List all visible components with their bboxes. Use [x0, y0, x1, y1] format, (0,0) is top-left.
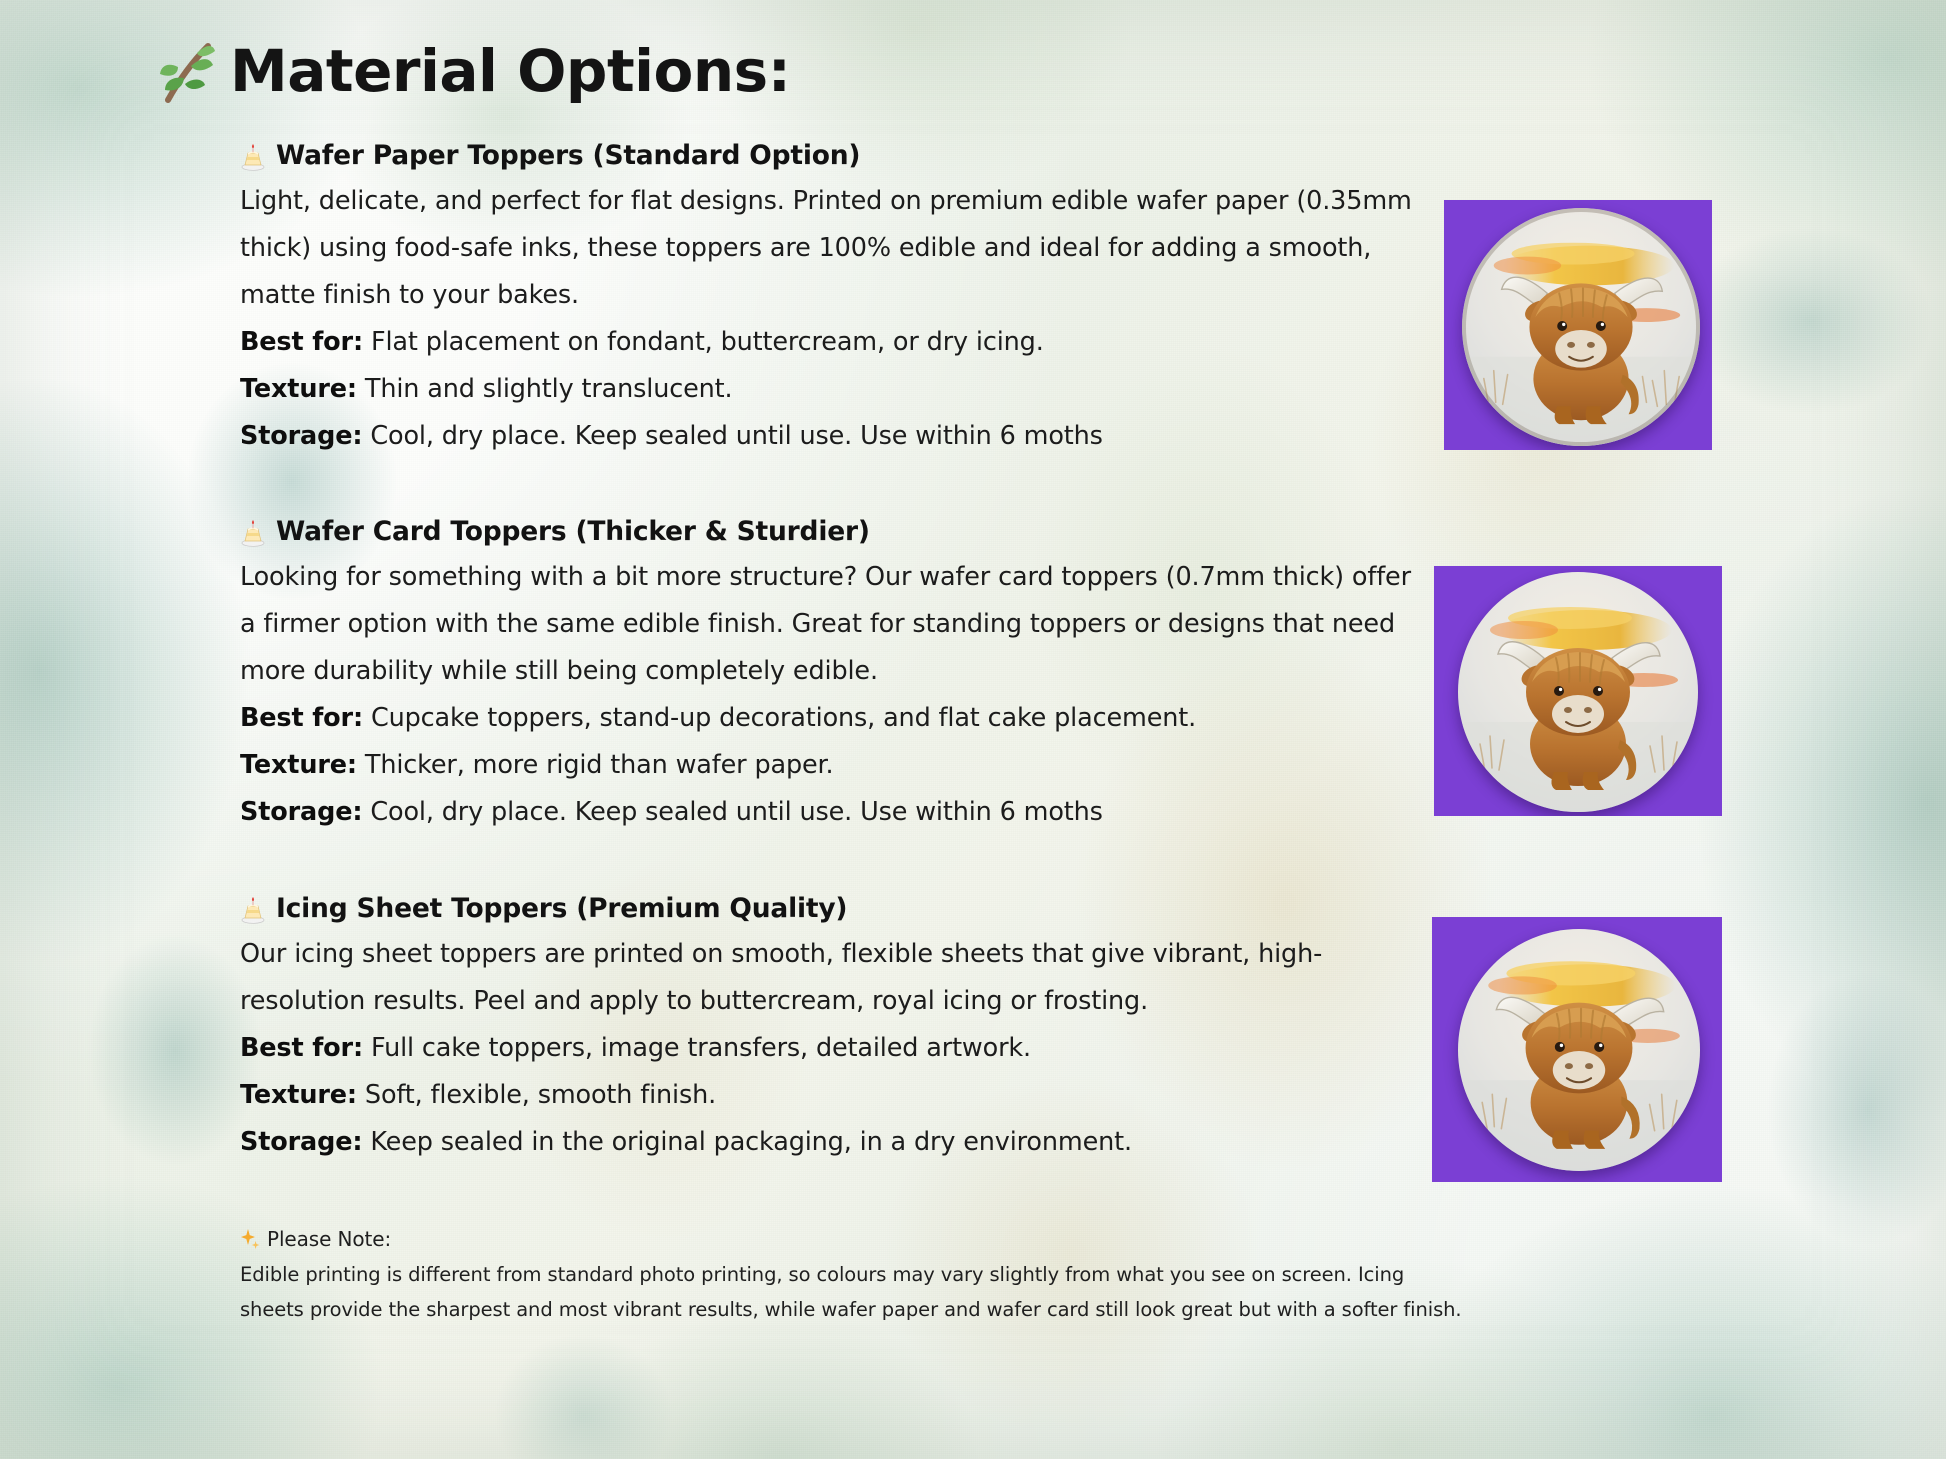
storage-label: Storage:	[240, 421, 362, 451]
cake-slice-icon	[240, 894, 266, 924]
texture-value: Thicker, more rigid than wafer paper.	[357, 750, 834, 780]
storage-value: Keep sealed in the original packaging, i…	[362, 1127, 1132, 1157]
storage-line: Storage: Cool, dry place. Keep sealed un…	[240, 413, 1415, 460]
best-for-label: Best for:	[240, 327, 363, 357]
section-paragraph: Our icing sheet toppers are printed on s…	[240, 931, 1415, 1025]
section-heading-row: Wafer Paper Toppers (Standard Option)	[240, 140, 1420, 171]
section-heading-row: Wafer Card Toppers (Thicker & Sturdier)	[240, 516, 1420, 547]
cake-slice-icon	[240, 141, 266, 171]
product-image-wafer-paper	[1444, 200, 1712, 450]
topper-disc	[1462, 208, 1700, 446]
section-paragraph: Light, delicate, and perfect for flat de…	[240, 178, 1415, 319]
best-for-line: Best for: Full cake toppers, image trans…	[240, 1025, 1415, 1072]
texture-label: Texture:	[240, 1080, 357, 1110]
page-title: Material Options:	[230, 42, 790, 100]
texture-line: Texture: Thin and slightly translucent.	[240, 366, 1415, 413]
section-wafer-paper: Wafer Paper Toppers (Standard Option) Li…	[240, 140, 1420, 460]
section-heading-text: Icing Sheet Toppers (Premium Quality)	[276, 893, 847, 924]
topper-disc	[1458, 929, 1700, 1171]
page-title-row: Material Options:	[158, 38, 790, 104]
section-body: Looking for something with a bit more st…	[240, 554, 1415, 836]
best-for-value: Flat placement on fondant, buttercream, …	[363, 327, 1044, 357]
texture-line: Texture: Soft, flexible, smooth finish.	[240, 1072, 1415, 1119]
texture-value: Thin and slightly translucent.	[357, 374, 733, 404]
please-note-heading-row: Please Note:	[240, 1222, 1470, 1257]
section-heading-row: Icing Sheet Toppers (Premium Quality)	[240, 893, 1420, 924]
leaf-branch-icon	[158, 38, 216, 104]
sparkle-icon	[240, 1229, 260, 1251]
best-for-line: Best for: Cupcake toppers, stand-up deco…	[240, 695, 1415, 742]
cake-slice-icon	[240, 517, 266, 547]
best-for-value: Cupcake toppers, stand-up decorations, a…	[363, 703, 1196, 733]
please-note-block: Please Note: Edible printing is differen…	[240, 1222, 1470, 1327]
section-wafer-card: Wafer Card Toppers (Thicker & Sturdier) …	[240, 516, 1420, 836]
section-body: Our icing sheet toppers are printed on s…	[240, 931, 1415, 1166]
best-for-line: Best for: Flat placement on fondant, but…	[240, 319, 1415, 366]
best-for-label: Best for:	[240, 703, 363, 733]
storage-label: Storage:	[240, 797, 362, 827]
storage-line: Storage: Keep sealed in the original pac…	[240, 1119, 1415, 1166]
product-image-icing-sheet	[1432, 917, 1722, 1182]
best-for-label: Best for:	[240, 1033, 363, 1063]
product-image-wafer-card	[1434, 566, 1722, 816]
texture-line: Texture: Thicker, more rigid than wafer …	[240, 742, 1415, 789]
topper-disc	[1458, 572, 1698, 812]
please-note-body: Edible printing is different from standa…	[240, 1257, 1470, 1327]
best-for-value: Full cake toppers, image transfers, deta…	[363, 1033, 1031, 1063]
section-paragraph: Looking for something with a bit more st…	[240, 554, 1415, 695]
storage-label: Storage:	[240, 1127, 362, 1157]
storage-value: Cool, dry place. Keep sealed until use. …	[362, 421, 1102, 451]
storage-line: Storage: Cool, dry place. Keep sealed un…	[240, 789, 1415, 836]
section-body: Light, delicate, and perfect for flat de…	[240, 178, 1415, 460]
please-note-heading: Please Note:	[267, 1222, 391, 1257]
storage-value: Cool, dry place. Keep sealed until use. …	[362, 797, 1102, 827]
section-heading-text: Wafer Paper Toppers (Standard Option)	[276, 140, 860, 171]
section-heading-text: Wafer Card Toppers (Thicker & Sturdier)	[276, 516, 870, 547]
texture-value: Soft, flexible, smooth finish.	[357, 1080, 716, 1110]
section-icing-sheet: Icing Sheet Toppers (Premium Quality) Ou…	[240, 893, 1420, 1166]
texture-label: Texture:	[240, 374, 357, 404]
texture-label: Texture:	[240, 750, 357, 780]
